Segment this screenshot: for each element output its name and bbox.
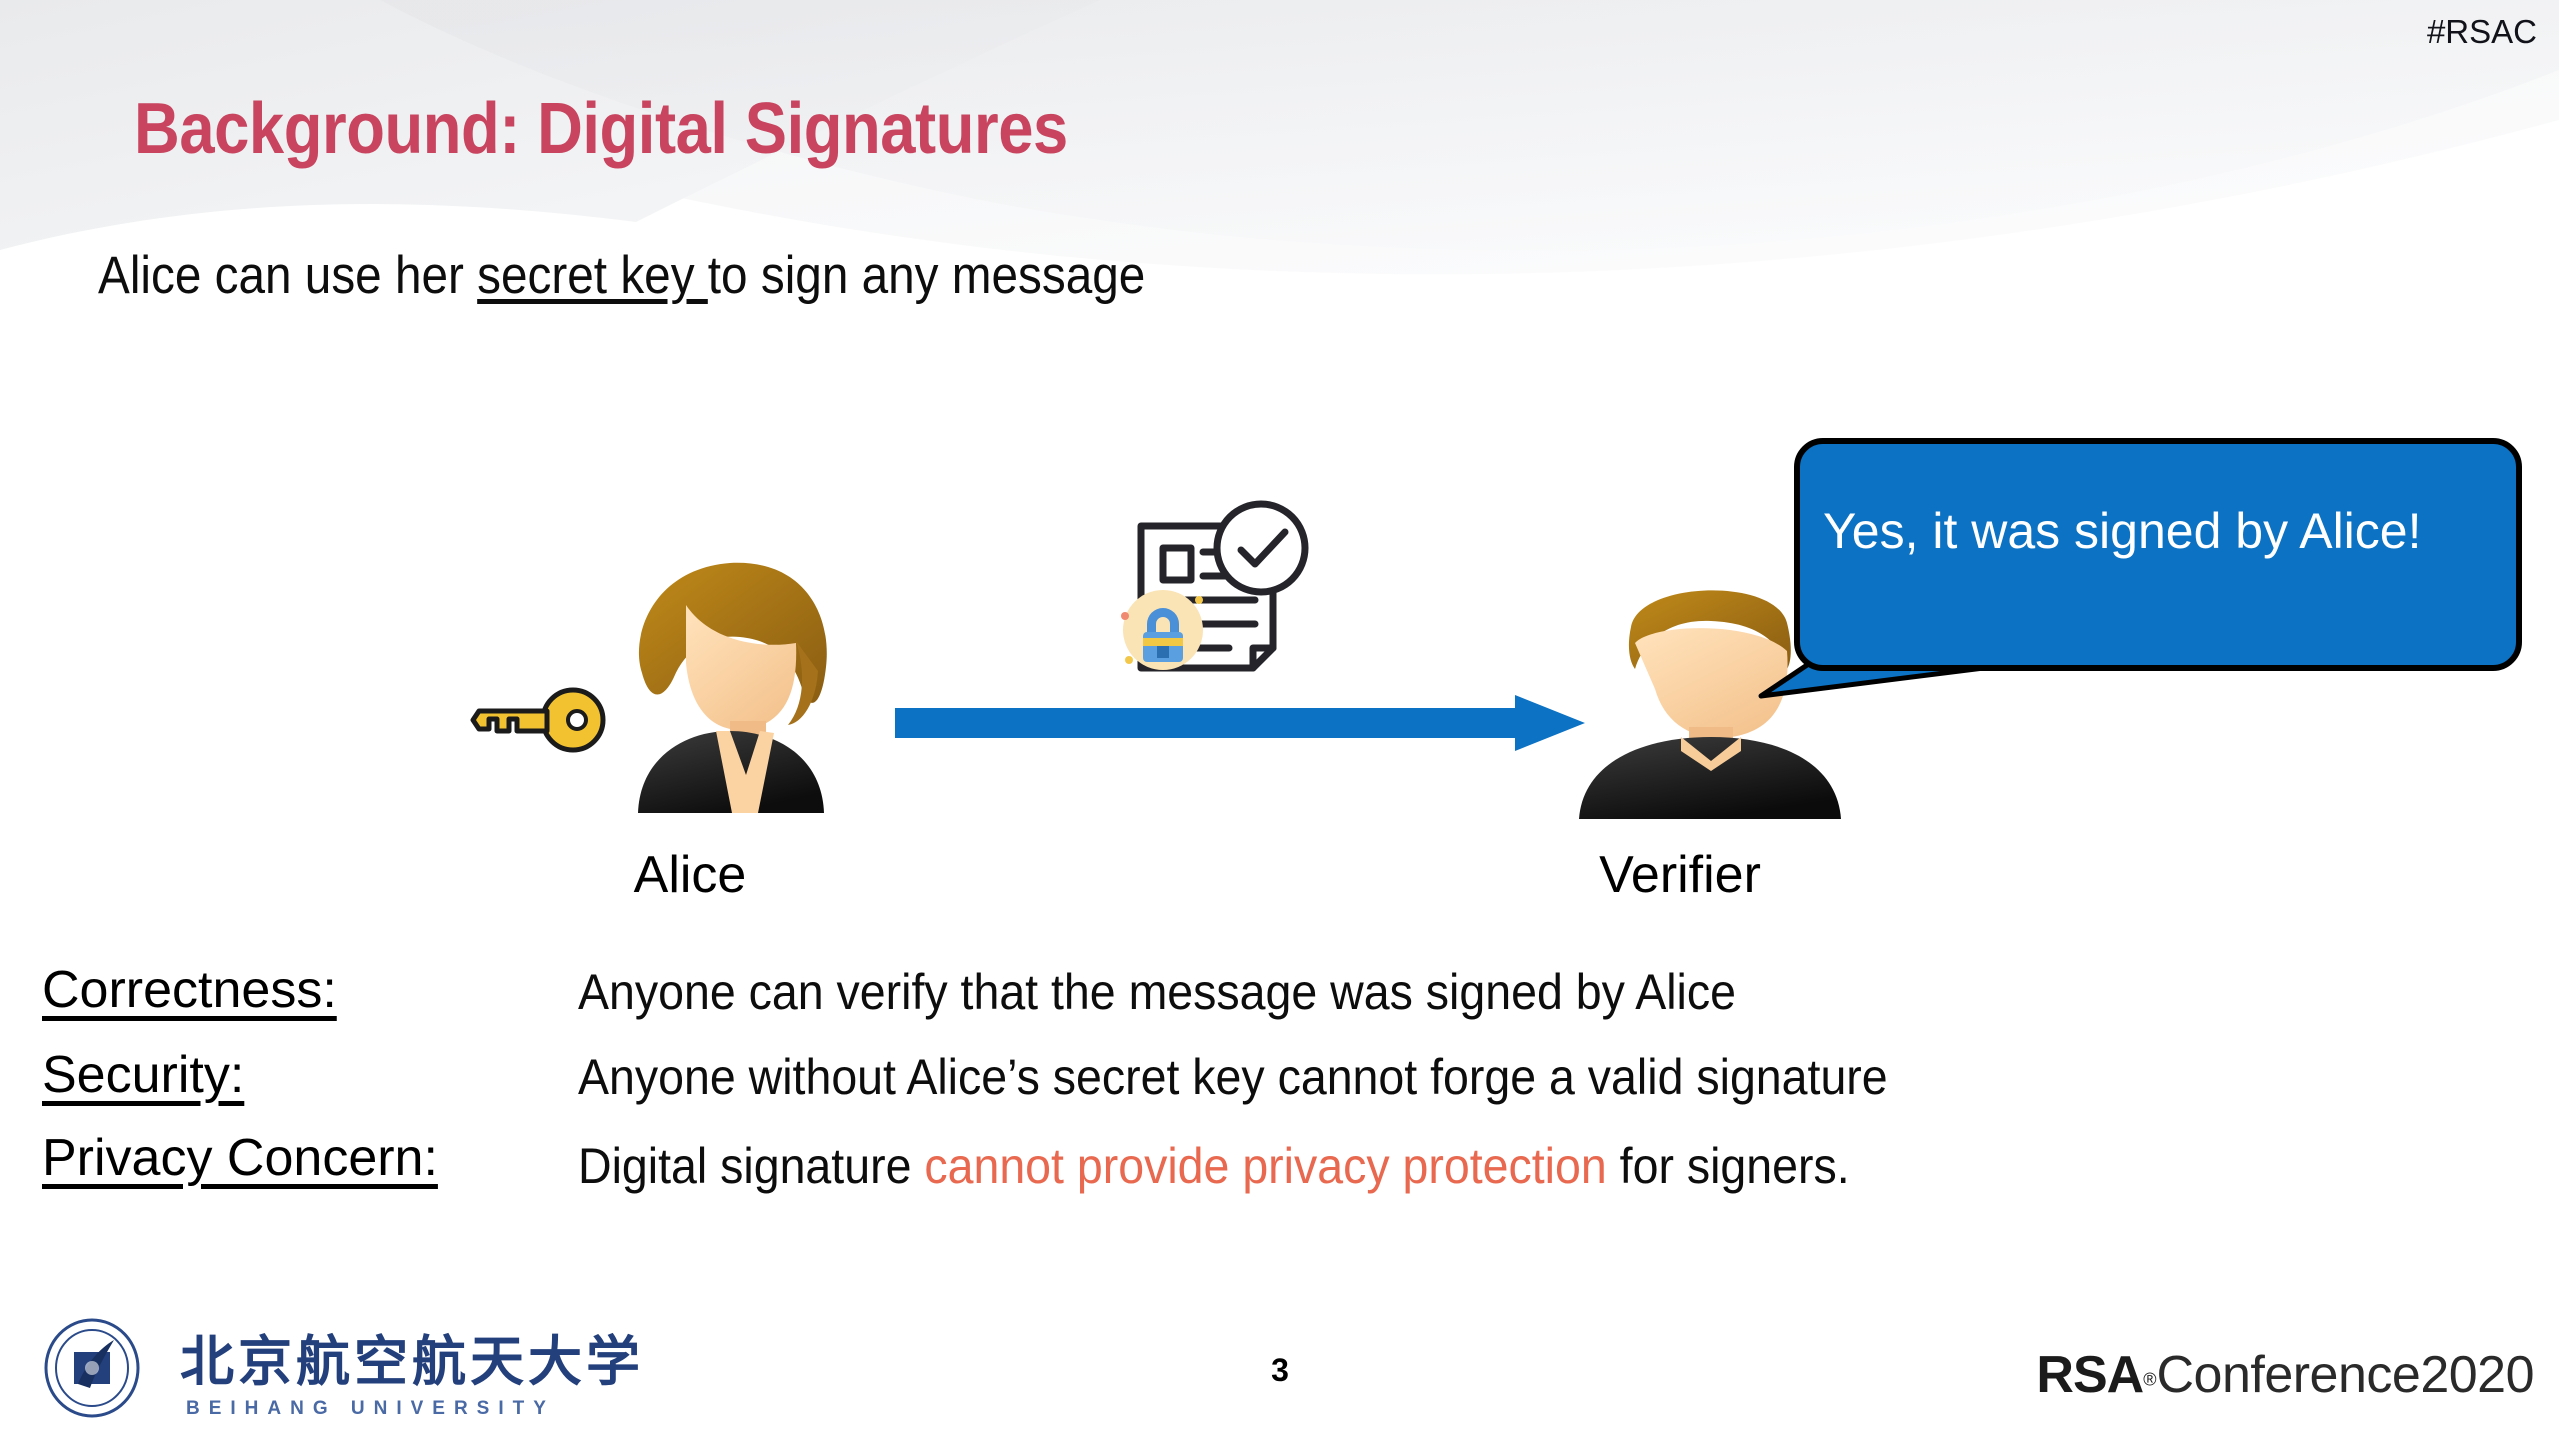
rsa-conference-logo: RSA®Conference2020 <box>2036 1345 2534 1401</box>
right-arrow-icon <box>895 695 1585 751</box>
beihang-seal-icon <box>46 1320 138 1416</box>
security-label: Security: <box>42 1045 244 1105</box>
intro-underlined-secret-key: secret key <box>477 246 708 305</box>
speech-bubble-text: Yes, it was signed by Alice! <box>1823 502 2513 560</box>
decorative-wave-background <box>0 0 2559 420</box>
rsa-wordmark: RSA <box>2036 1346 2143 1404</box>
privacy-concern-text: Digital signature cannot provide privacy… <box>578 1137 1850 1195</box>
slide-canvas: #RSAC Background: Digital Signatures Ali… <box>0 0 2559 1439</box>
rsac-hashtag: #RSAC <box>2427 13 2537 51</box>
correctness-text: Anyone can verify that the message was s… <box>578 963 1736 1021</box>
beihang-chinese-name: 北京航空航天大学 <box>180 1330 644 1393</box>
correctness-label: Correctness: <box>42 960 337 1020</box>
alice-label: Alice <box>560 845 820 905</box>
page-title: Background: Digital Signatures <box>134 88 1068 170</box>
intro-after: to sign any message <box>708 246 1145 305</box>
conference-year-word: Conference2020 <box>2156 1346 2534 1404</box>
privacy-text-after: for signers. <box>1607 1138 1850 1194</box>
beihang-english-name: BEIHANG UNIVERSITY <box>186 1398 555 1419</box>
alice-avatar <box>590 545 870 815</box>
svg-text:北京航空航天大学: 北京航空航天大学 <box>180 1330 644 1393</box>
privacy-concern-label: Privacy Concern: <box>42 1128 438 1188</box>
page-number: 3 <box>1240 1352 1320 1389</box>
beihang-university-logo: 北京航空航天大学 BEIHANG UNIVERSITY <box>38 1318 698 1426</box>
intro-before: Alice can use her <box>98 246 477 305</box>
verifier-label: Verifier <box>1480 845 1880 905</box>
security-text: Anyone without Alice’s secret key cannot… <box>578 1048 1888 1106</box>
signed-document-icon <box>1105 490 1310 680</box>
registered-trademark-icon: ® <box>2143 1370 2156 1390</box>
privacy-text-highlight: cannot provide privacy protection <box>924 1138 1606 1194</box>
privacy-text-before: Digital signature <box>578 1138 924 1194</box>
intro-sentence: Alice can use her secret key to sign any… <box>98 245 1145 306</box>
